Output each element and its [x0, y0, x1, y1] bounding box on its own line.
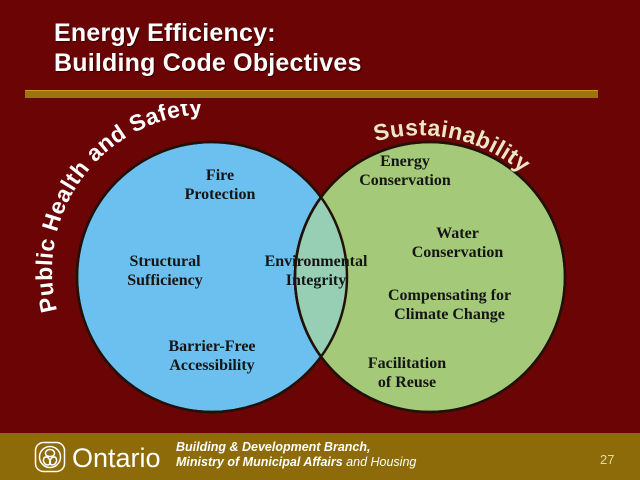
venn-item-water-conservation: Water Conservation [385, 224, 530, 262]
venn-diagram: Public Health and Safety Sustainability … [0, 104, 640, 424]
title-divider-rule [25, 90, 598, 98]
venn-item-compensating-for-climate-change: Compensating for Climate Change [362, 286, 537, 324]
venn-item-facilitation-of-reuse: Facilitation of Reuse [337, 354, 477, 392]
footer-branch-line-1: Building & Development Branch, [176, 440, 370, 454]
footer-ministry-light: and Housing [343, 455, 417, 469]
page-title: Energy Efficiency: Building Code Objecti… [54, 18, 614, 78]
venn-item-energy-conservation: Energy Conservation [330, 152, 480, 190]
footer-ministry-bold: Ministry of Municipal Affairs [176, 455, 343, 469]
footer-branch-text: Building & Development Branch, Ministry … [176, 440, 416, 470]
ontario-trillium-icon [34, 441, 66, 473]
title-line-1: Energy Efficiency: [54, 18, 614, 48]
title-line-2: Building Code Objectives [54, 48, 614, 78]
venn-item-fire-protection: Fire Protection [160, 166, 280, 204]
venn-item-environmental-integrity: Environmental Integrity [236, 252, 396, 290]
ontario-wordmark: Ontario [72, 443, 161, 473]
venn-item-structural-sufficiency: Structural Sufficiency [100, 252, 230, 290]
page-number: 27 [600, 452, 628, 467]
venn-item-barrier-free-accessibility: Barrier-Free Accessibility [142, 337, 282, 375]
slide-canvas: Energy Efficiency: Building Code Objecti… [0, 0, 640, 480]
